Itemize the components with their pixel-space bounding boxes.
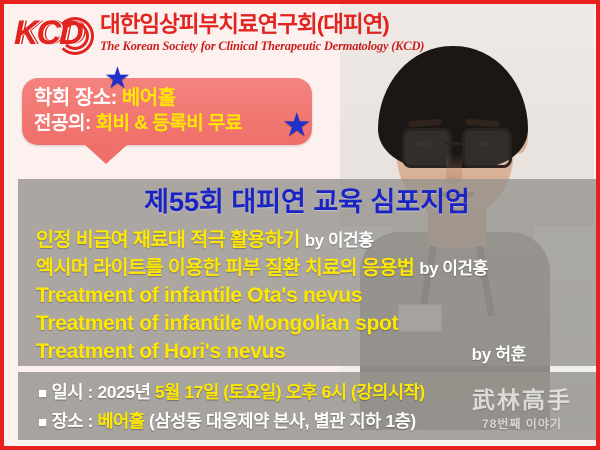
watermark: 武林高手 78번째 이야기 (472, 388, 572, 432)
symposium-title: 제55회 대피연 교육 심포지엄 (18, 187, 596, 218)
session-topic: 인정 비급여 재료대 적극 활용하기 (36, 229, 300, 251)
event-date-year: 2025년 (97, 382, 150, 402)
callout-line-fee: 전공의: 회비 & 등록비 무료 (34, 112, 302, 136)
session-speaker: by 이건홍 (305, 231, 373, 250)
event-venue-value: 베어홀 (97, 411, 144, 431)
session-row: 엑시머 라이트를 이용한 피부 질환 치료의 응용법 by 이건홍 (18, 255, 596, 283)
session-speaker: by 이건홍 (419, 259, 487, 278)
program-panel: 제55회 대피연 교육 심포지엄 인정 비급여 재료대 적극 활용하기 by 이… (18, 179, 596, 366)
org-name-korean: 대한임상피부치료연구회(대피연) (100, 14, 424, 37)
session-row: 인정 비급여 재료대 적극 활용하기 by 이건홍 (18, 227, 596, 255)
watermark-sub-text: 78번째 이야기 (472, 415, 572, 432)
session-row-english: Treatment of infantile Mongolian spot (18, 310, 596, 338)
poster-header: KCD 대한임상피부치료연구회(대피연) The Korean Society … (4, 4, 596, 62)
watermark-main-text: 武林高手 (472, 388, 572, 413)
bullet-square-icon: ■ (38, 385, 47, 402)
session-row-english: Treatment of infantile Ota's nevus (18, 282, 596, 310)
session-row-english: Treatment of Hori's nevus by 허훈 (18, 338, 596, 366)
callout-bubble-tail (84, 144, 128, 164)
session-topic-english: Treatment of Hori's nevus (36, 338, 286, 366)
callout-line-venue: 학회 장소: 베어홀 (34, 86, 302, 112)
event-date-label: 일시 : (52, 382, 93, 402)
venue-callout: 학회 장소: 베어홀 전공의: 회비 & 등록비 무료 (22, 78, 312, 145)
star-decoration-top: ★ (104, 64, 131, 94)
organization-names: 대한임상피부치료연구회(대피연) The Korean Society for … (100, 14, 424, 52)
org-name-english: The Korean Society for Clinical Therapeu… (100, 40, 424, 53)
session-speaker-english: by 허훈 (472, 344, 526, 367)
event-venue-detail: (삼성동 대웅제약 본사, 별관 지하 1층) (149, 411, 416, 431)
poster-root: KCD 대한임상피부치료연구회(대피연) The Korean Society … (0, 0, 600, 450)
kcd-logo-ring-inner (61, 22, 89, 50)
callout-fee-label: 전공의: (34, 113, 91, 134)
star-decoration-right: ★ (282, 108, 312, 141)
eyeglasses-bridge (445, 142, 463, 145)
eyeglasses-left-lens (402, 128, 452, 168)
event-venue-label: 장소 : (52, 411, 93, 431)
event-date-value: 5월 17일 (토요일) 오후 6시 (강의시작) (155, 382, 425, 402)
bullet-square-icon: ■ (38, 414, 47, 431)
callout-bubble: 학회 장소: 베어홀 전공의: 회비 & 등록비 무료 (22, 78, 312, 145)
callout-fee-value: 회비 & 등록비 무료 (96, 113, 242, 134)
session-topic: 엑시머 라이트를 이용한 피부 질환 치료의 응용법 (36, 257, 414, 279)
eyeglasses-right-lens (462, 128, 512, 168)
kcd-logo-icon: KCD (14, 13, 92, 53)
